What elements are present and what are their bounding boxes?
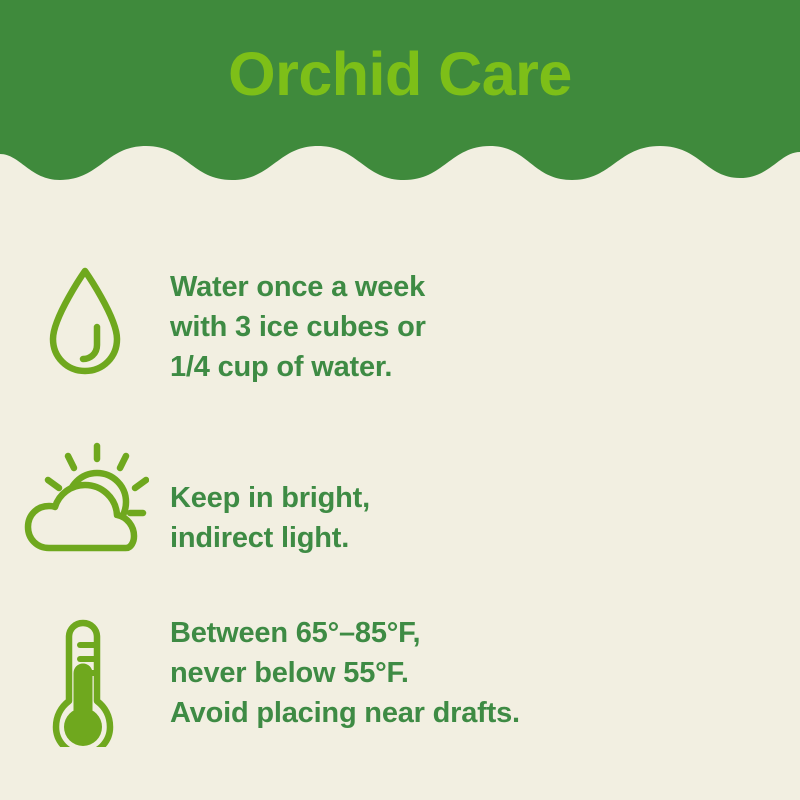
care-item-temperature-text: Between 65°–85°F, never below 55°F. Avoi… <box>170 605 800 733</box>
care-text-line: Avoid placing near drafts. <box>170 693 800 733</box>
care-text-line: Keep in bright, <box>170 478 800 518</box>
sun-behind-cloud-icon <box>21 440 149 562</box>
care-item-water-text: Water once a week with 3 ice cubes or 1/… <box>170 255 800 387</box>
care-item-temperature-icon-cell <box>0 605 170 747</box>
header-banner: Orchid Care <box>0 0 800 190</box>
care-item-water-icon-cell <box>0 255 170 381</box>
thermometer-icon <box>42 615 128 747</box>
care-text-line: 1/4 cup of water. <box>170 347 800 387</box>
care-item-temperature: Between 65°–85°F, never below 55°F. Avoi… <box>0 605 800 780</box>
care-text-line: with 3 ice cubes or <box>170 307 800 347</box>
water-drop-icon <box>39 261 131 381</box>
care-text-line: Water once a week <box>170 267 800 307</box>
care-item-light-text: Keep in bright, indirect light. <box>170 430 800 558</box>
care-text-line: never below 55°F. <box>170 653 800 693</box>
care-text-line: indirect light. <box>170 518 800 558</box>
care-text-line: Between 65°–85°F, <box>170 613 800 653</box>
care-instructions-list: Water once a week with 3 ice cubes or 1/… <box>0 255 800 780</box>
care-item-light-icon-cell <box>0 430 170 562</box>
page-title: Orchid Care <box>0 0 800 155</box>
care-item-water: Water once a week with 3 ice cubes or 1/… <box>0 255 800 430</box>
care-item-light: Keep in bright, indirect light. <box>0 430 800 605</box>
